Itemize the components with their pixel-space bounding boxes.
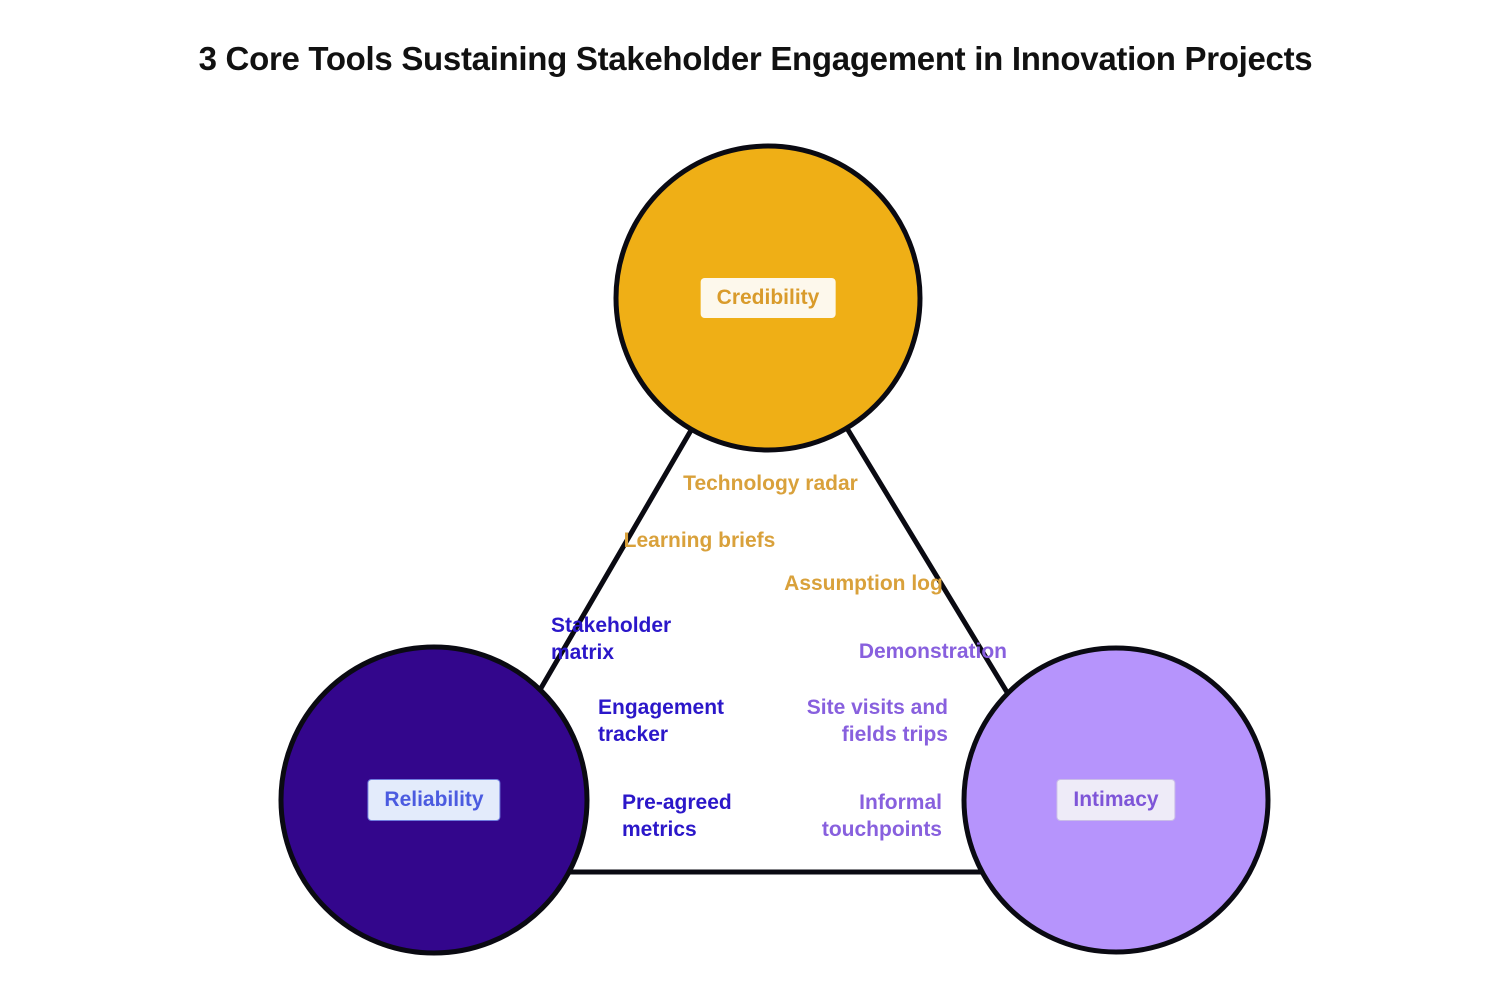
node-label-intimacy: Intimacy [1056,779,1175,821]
node-label-credibility: Credibility [701,278,836,318]
tool-label-technology-radar: Technology radar [668,471,873,498]
tool-label-informal-touchpoints: Informal touchpoints [760,790,942,844]
tool-label-stakeholder-matrix: Stakeholder matrix [551,613,701,667]
tool-label-engagement-tracker: Engagement tracker [598,695,748,749]
tool-label-learning-briefs: Learning briefs [611,528,788,555]
tool-label-pre-agreed-metrics: Pre-agreed metrics [622,790,762,844]
diagram-canvas: 3 Core Tools Sustaining Stakeholder Enga… [0,0,1511,993]
tool-label-site-visits-and-fields-trips: Site visits and fields trips [760,695,948,749]
node-label-reliability: Reliability [367,779,500,821]
tool-label-demonstration: Demonstration [790,639,1007,666]
tool-label-assumption-log: Assumption log [773,571,954,598]
